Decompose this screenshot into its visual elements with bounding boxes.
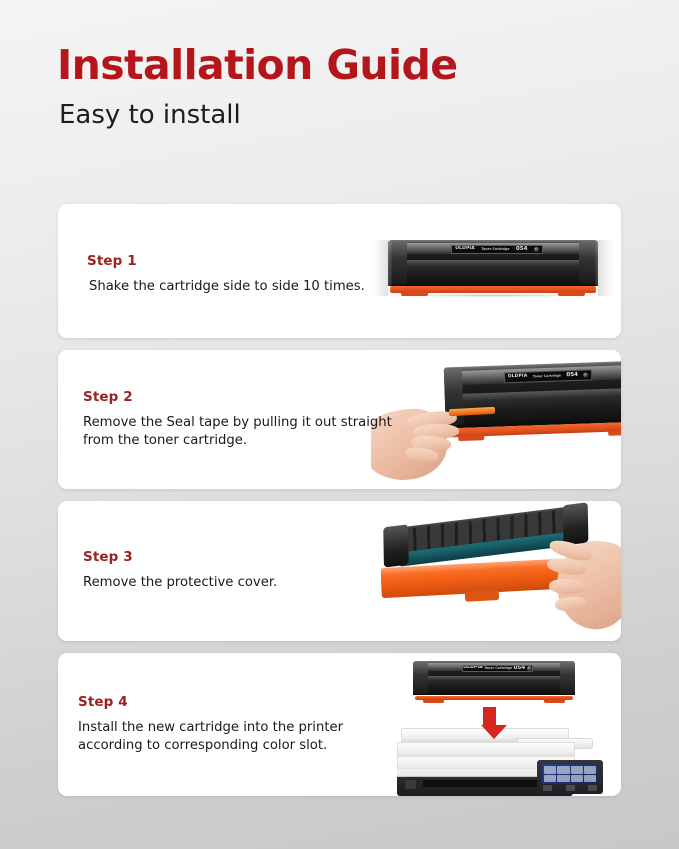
printer-button	[566, 785, 575, 791]
screen-app-icon	[571, 775, 583, 783]
cartridge-model-text: 054	[516, 247, 528, 253]
step-card-4: Step 4 Install the new cartridge into th…	[58, 653, 621, 796]
step-1-text-block: Step 1 Shake the cartridge side to side …	[83, 208, 413, 338]
cartridge-lower-body	[413, 686, 575, 695]
hand-icon	[535, 535, 621, 633]
toner-cartridge-icon: OLDPIA Toner Cartridge 054	[413, 661, 575, 703]
step-3-text-block: Step 3 Remove the protective cover.	[83, 501, 413, 641]
screen-app-icon	[557, 766, 569, 774]
arrow-shaft	[483, 707, 496, 725]
printer-tray-2	[397, 742, 575, 757]
step-1-description: Shake the cartridge side to side 10 time…	[89, 278, 413, 296]
printer-button	[543, 785, 552, 791]
cartridge-model-text: 054	[514, 666, 526, 672]
step-4-text-block: Step 4 Install the new cartridge into th…	[78, 653, 378, 796]
screen-app-icon	[544, 775, 556, 783]
cover-tab	[465, 590, 499, 602]
printer-button	[588, 785, 597, 791]
cartridge-shadow	[396, 294, 589, 297]
step-4-illustration: OLDPIA Toner Cartridge 054	[385, 653, 615, 796]
cartridge-endcap-left	[413, 662, 428, 694]
step-card-list: Step 1 Shake the cartridge side to side …	[58, 204, 621, 808]
cartridge-sub-text: Toner Cartridge	[533, 374, 561, 378]
step-3-description: Remove the protective cover.	[83, 574, 413, 592]
down-arrow-icon	[481, 707, 497, 739]
step-card-1: Step 1 Shake the cartridge side to side …	[58, 204, 621, 338]
printer-paper-slot	[423, 780, 547, 787]
step-3-label: Step 3	[83, 549, 413, 565]
step-card-2: Step 2 Remove the Seal tape by pulling i…	[58, 350, 621, 489]
printer-buttons	[543, 785, 597, 791]
cartridge-midsection	[396, 260, 589, 275]
cartridge-dot-icon	[534, 247, 539, 252]
cartridge-label: OLDPIA Toner Cartridge 054	[451, 245, 543, 254]
step-card-3: Step 3 Remove the protective cover.	[58, 501, 621, 641]
cartridge-brand-text: OLDPIA	[508, 375, 528, 380]
printer-knob	[405, 780, 416, 789]
toner-cartridge-icon: OLDPIA Toner Cartridge 054	[388, 240, 598, 296]
step-3-illustration	[381, 501, 621, 641]
step-2-text-block: Step 2 Remove the Seal tape by pulling i…	[83, 350, 413, 489]
arrow-head	[481, 725, 507, 739]
screen-app-icon	[584, 775, 596, 783]
cartridge-sub-text: Toner Cartridge	[484, 667, 512, 670]
cartridge-model-text: 054	[566, 372, 578, 378]
screen-app-icon	[584, 766, 596, 774]
cartridge-brand-text: OLDPIA	[463, 666, 483, 670]
step-1-label: Step 1	[87, 253, 413, 269]
cartridge-label: OLDPIA Toner Cartridge 054	[462, 665, 534, 672]
cartridge-foot-left	[423, 700, 444, 703]
hand-finger	[549, 578, 586, 594]
step-4-description: Install the new cartridge into the print…	[78, 719, 378, 755]
screen-app-icon	[571, 766, 583, 774]
printer-screen	[542, 764, 598, 784]
step-2-description: Remove the Seal tape by pulling it out s…	[83, 414, 413, 450]
cartridge-endcap-right	[560, 662, 575, 694]
cartridge-brand-text: OLDPIA	[455, 247, 475, 251]
cartridge-dot-icon	[583, 372, 588, 377]
cartridge-dot-icon	[527, 666, 532, 671]
header: Installation Guide Easy to install	[57, 44, 617, 130]
step-4-label: Step 4	[78, 694, 378, 710]
illustration-fade-right	[595, 234, 621, 298]
page-subtitle: Easy to install	[59, 101, 617, 130]
cartridge-lower-body	[388, 274, 598, 286]
printer-control-panel	[537, 760, 603, 794]
cartridge-foot-right	[544, 700, 565, 703]
step-2-label: Step 2	[83, 389, 413, 405]
cartridge-foot-right	[608, 430, 621, 436]
page-title: Installation Guide	[57, 44, 617, 87]
cartridge-sub-text: Toner Cartridge	[481, 248, 509, 251]
screen-app-icon	[544, 766, 556, 774]
screen-app-icon	[557, 775, 569, 783]
installation-guide-page: Installation Guide Easy to install Step …	[0, 0, 679, 849]
